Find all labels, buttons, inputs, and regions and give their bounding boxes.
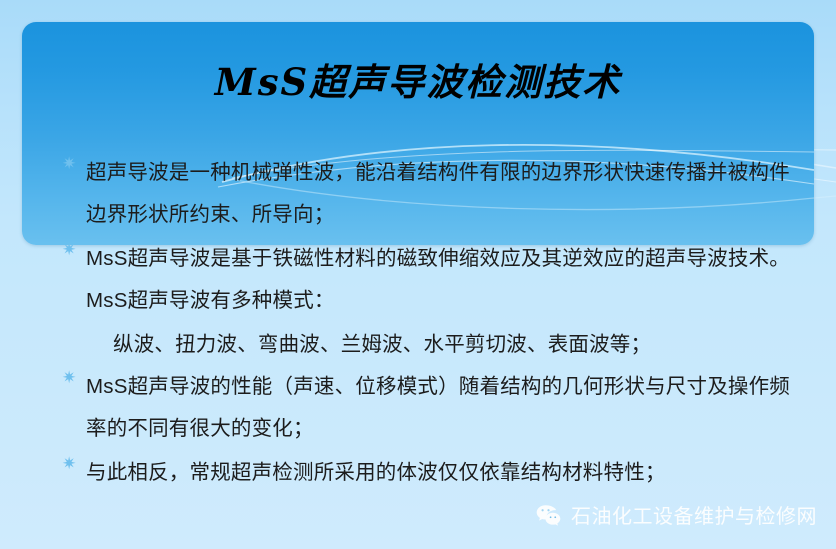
list-item-text: MsS超声导波是基于铁磁性材料的磁致伸缩效应及其逆效应的超声导波技术。MsS超声…: [86, 247, 790, 312]
list-item-text: 与此相反，常规超声检测所采用的体波仅仅依靠结构材料特性；: [86, 461, 666, 484]
sub-list-item: 纵波、扭力波、弯曲波、兰姆波、水平剪切波、表面波等；: [0, 324, 836, 366]
list-item: ✷ MsS超声导波是基于铁磁性材料的磁致伸缩效应及其逆效应的超声导波技术。MsS…: [0, 238, 836, 322]
watermark: 石油化工设备维护与检修网: [535, 500, 817, 529]
bullet-asterisk-icon: ✷: [62, 456, 76, 473]
bullet-asterisk-icon: ✷: [62, 156, 76, 173]
slide-canvas: MsS超声导波检测技术 ✷ 超声导波是一种机械弹性波，能沿着结构件有限的边界形状…: [0, 0, 836, 549]
wechat-logo-icon: [535, 501, 562, 528]
watermark-text: 石油化工设备维护与检修网: [571, 500, 817, 529]
list-item: ✷ MsS超声导波的性能（声速、位移模式）随着结构的几何形状与尺寸及操作频率的不…: [0, 366, 836, 450]
bullet-list: ✷ 超声导波是一种机械弹性波，能沿着结构件有限的边界形状快速传播并被构件边界形状…: [0, 152, 836, 496]
bullet-asterisk-icon: ✷: [62, 242, 76, 259]
list-item-text: MsS超声导波的性能（声速、位移模式）随着结构的几何形状与尺寸及操作频率的不同有…: [86, 375, 790, 440]
sub-list-item-text: 纵波、扭力波、弯曲波、兰姆波、水平剪切波、表面波等；: [113, 333, 651, 356]
page-title: MsS超声导波检测技术: [22, 52, 814, 106]
list-item-text: 超声导波是一种机械弹性波，能沿着结构件有限的边界形状快速传播并被构件边界形状所约…: [86, 161, 790, 226]
list-item: ✷ 超声导波是一种机械弹性波，能沿着结构件有限的边界形状快速传播并被构件边界形状…: [0, 152, 836, 236]
list-item: ✷ 与此相反，常规超声检测所采用的体波仅仅依靠结构材料特性；: [0, 452, 836, 494]
bullet-asterisk-icon: ✷: [62, 370, 76, 387]
